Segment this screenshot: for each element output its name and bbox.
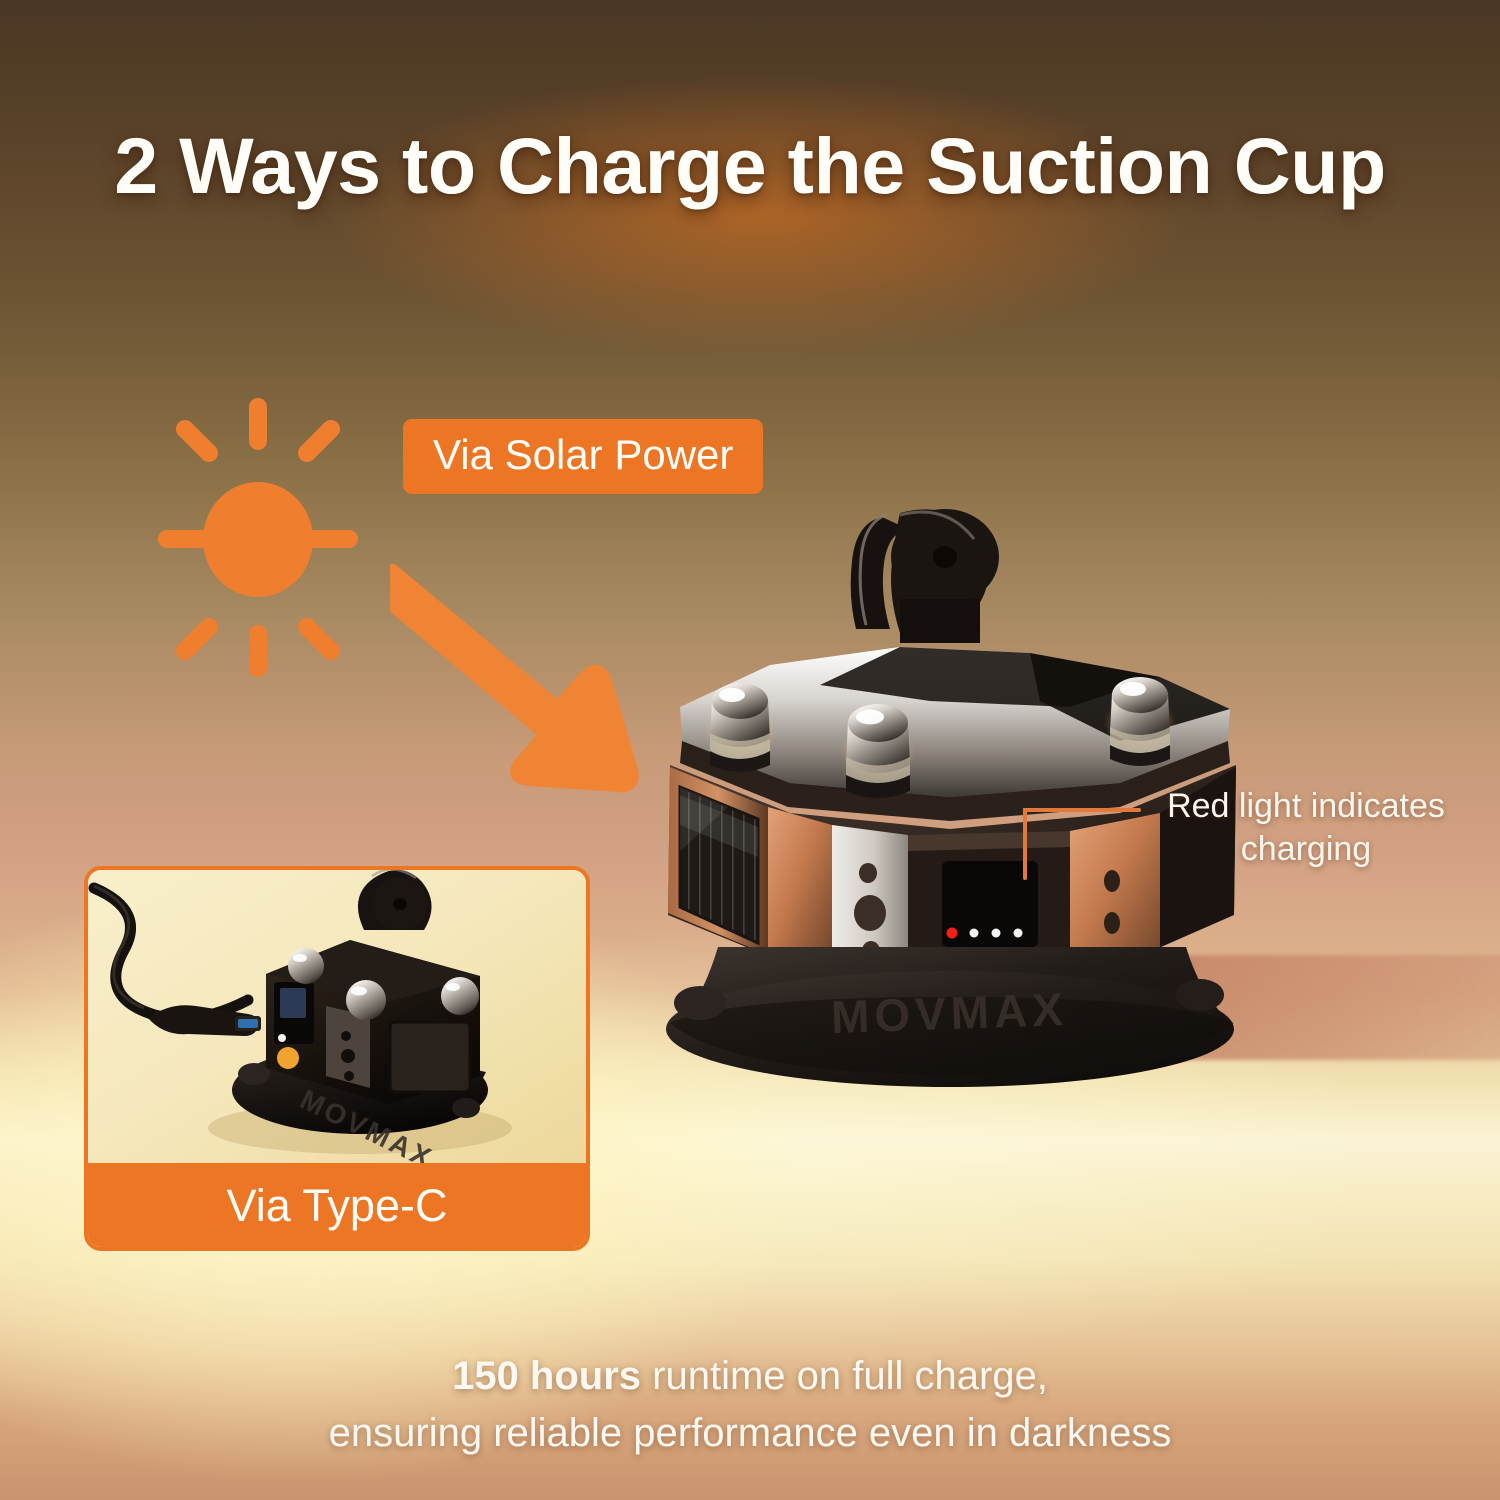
chrome-knob-center <box>840 704 916 798</box>
base-brand-emboss: MOVMAX <box>830 983 1069 1043</box>
led-red-charging <box>947 928 958 939</box>
sun-ray-nw <box>172 416 221 465</box>
sun-ray-w <box>158 530 210 548</box>
page-title: 2 Ways to Charge the Suction Cup <box>0 120 1500 212</box>
leader-elbow-line <box>1021 798 1141 880</box>
footer-line-2: ensuring reliable performance even in da… <box>0 1405 1500 1462</box>
sun-icon <box>118 392 398 667</box>
chrome-knob-left <box>704 683 776 772</box>
sun-ray-e <box>306 530 358 548</box>
panel-hole-1 <box>859 863 877 883</box>
annotation-line-2: charging <box>1136 828 1476 871</box>
annotation-line-1: Red light indicates <box>1136 785 1476 828</box>
sun-ray-n <box>249 398 267 450</box>
cup-tab-left <box>674 986 726 1020</box>
inset-knob-3 <box>441 977 479 1015</box>
card-via-type-c[interactable]: MOVMAX <box>84 866 590 1251</box>
runtime-value: 150 hours <box>452 1354 641 1398</box>
inset-power-button <box>277 1047 299 1069</box>
footer-line-1: 150 hours runtime on full charge, <box>0 1348 1500 1405</box>
footer-caption: 150 hours runtime on full charge, ensuri… <box>0 1348 1500 1462</box>
panel-hole-2 <box>854 895 886 931</box>
body-face-left2 <box>768 807 832 965</box>
gopro-mount-icon <box>851 509 999 643</box>
sun-ray-ne <box>294 416 343 465</box>
led-white-1 <box>970 929 979 938</box>
inset-solar-panel <box>390 1022 470 1092</box>
badge-via-type-c[interactable]: Via Type-C <box>88 1163 586 1247</box>
led-white-3 <box>1014 929 1023 938</box>
cup-tab-right <box>1176 979 1224 1011</box>
runtime-rest: runtime on full charge, <box>641 1354 1048 1398</box>
infographic-canvas: 2 Ways to Charge the Suction Cup Via Sol… <box>0 0 1500 1500</box>
led-white-2 <box>992 929 1001 938</box>
sun-ray-s <box>249 625 267 677</box>
sun-core <box>203 482 313 597</box>
chrome-knob-right <box>1104 677 1176 766</box>
annotation-red-light-charging: Red light indicates charging <box>1136 785 1476 871</box>
type-c-product-photo: MOVMAX <box>88 870 586 1170</box>
sun-ray-se <box>294 614 343 663</box>
inset-knob-1 <box>288 948 324 984</box>
sun-ray-sw <box>172 614 221 663</box>
badge-via-solar-power[interactable]: Via Solar Power <box>403 419 763 494</box>
inset-knob-2 <box>346 980 386 1020</box>
